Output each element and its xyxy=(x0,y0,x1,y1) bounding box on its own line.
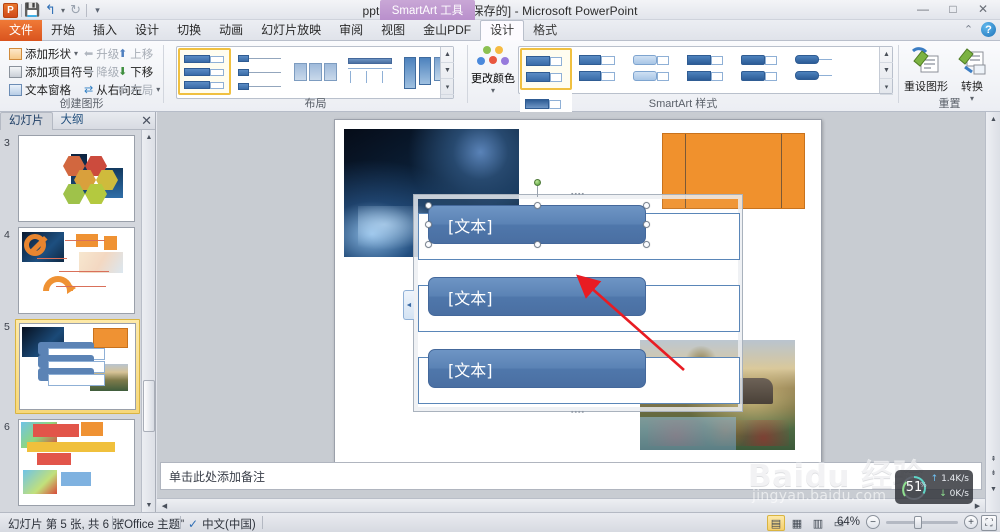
slide-canvas[interactable]: ▪▪▪▪ ▪▪▪▪ ◄ [文本] xyxy=(334,119,822,486)
ribbon-help-buttons: ⌃ ? xyxy=(961,22,996,37)
divider xyxy=(180,516,181,529)
upload-icon: ↑ xyxy=(931,474,939,484)
chevron-down-icon[interactable]: ▾ xyxy=(74,49,78,58)
selection-handle-sw[interactable] xyxy=(425,241,432,248)
slides-panel-scrollbar[interactable]: ▲ ▼ xyxy=(141,130,155,512)
tab-file[interactable]: 文件 xyxy=(0,20,42,41)
language-label: 中文(中国) xyxy=(202,516,256,532)
layout-gallery-item-3[interactable] xyxy=(343,48,396,95)
download-icon: ↓ xyxy=(939,489,947,499)
styles-scroll-up-icon[interactable]: ▲ xyxy=(880,47,893,63)
add-shape-label: 添加形状 xyxy=(25,46,71,62)
view-normal-icon[interactable]: ▤ xyxy=(767,515,785,531)
scroll-down-icon[interactable]: ▼ xyxy=(986,482,1000,496)
close-panel-icon[interactable]: ✕ xyxy=(141,113,152,129)
slide-thumbnail-6[interactable] xyxy=(18,419,135,506)
group-label-smartart-styles: SmartArt 样式 xyxy=(468,95,898,111)
divider xyxy=(262,516,263,529)
tab-kingsoft-pdf[interactable]: 金山PDF xyxy=(414,20,480,41)
minimize-ribbon-icon[interactable]: ⌃ xyxy=(961,22,976,37)
slide-thumbnail-list: 3 4 xyxy=(0,130,141,512)
move-up-button[interactable]: ⬆ 上移 xyxy=(116,45,155,62)
layout-gallery-item-2[interactable] xyxy=(288,48,341,95)
tab-animations[interactable]: 动画 xyxy=(210,20,252,41)
download-rate-value: 0K/s xyxy=(950,489,969,499)
layout-gallery-scrollbar[interactable]: ▲ ▼ ▾ xyxy=(440,47,453,98)
group-label-reset: 重置 xyxy=(899,95,1000,111)
zoom-level-label[interactable]: 64% xyxy=(832,516,860,528)
text-pane-toggle-icon[interactable]: ◄ xyxy=(403,290,414,320)
chevron-down-icon[interactable]: ▾ xyxy=(156,85,160,94)
upload-rate: ↑ 1.4K/s xyxy=(931,474,969,484)
workspace-vertical-scrollbar[interactable]: ▲ ⇞ ⇟ ▼ xyxy=(985,112,1000,512)
smartart-node-3-shape[interactable]: [文本] xyxy=(428,349,646,388)
selection-handle-s[interactable] xyxy=(534,241,541,248)
network-speed-widget[interactable]: 51 % ↑ 1.4K/s ↓ 0K/s xyxy=(895,470,973,504)
slide-thumbnail-3[interactable] xyxy=(18,135,135,222)
slide-number: 5 xyxy=(4,321,10,333)
list-item[interactable]: 3 xyxy=(0,130,141,222)
window-title: pptC2B4.pptm [自动保存的] - Microsoft PowerPo… xyxy=(0,2,1000,19)
tab-outline[interactable]: 大纲 xyxy=(53,112,92,130)
reset-graphic-button[interactable]: 重设图形 xyxy=(904,44,948,94)
powerpoint-window: P 💾 ↰ ▾ ↻ ▾ pptC2B4.pptm [自动保存的] - Micro… xyxy=(0,0,1000,532)
reset-graphic-icon xyxy=(910,47,942,77)
selection-handle-n[interactable] xyxy=(534,202,541,209)
gallery-scroll-up-icon[interactable]: ▲ xyxy=(441,47,454,63)
help-icon[interactable]: ? xyxy=(981,22,996,37)
smartart-style-item-1[interactable] xyxy=(574,48,626,90)
list-item[interactable]: 5 xyxy=(0,314,141,414)
scroll-left-icon[interactable]: ◀ xyxy=(157,499,172,513)
tab-smartart-design[interactable]: 设计 xyxy=(480,20,524,41)
smartart-style-item-0[interactable] xyxy=(520,48,572,90)
slide-thumbnail-selected-frame xyxy=(15,319,140,414)
zoom-slider[interactable] xyxy=(886,521,958,524)
scroll-up-icon[interactable]: ▲ xyxy=(986,112,1000,126)
ribbon-group-layouts: ▲ ▼ ▾ 布局 xyxy=(164,41,467,112)
move-down-label: 下移 xyxy=(130,64,153,80)
smartart-graphic-frame[interactable]: ▪▪▪▪ ▪▪▪▪ ◄ [文本] xyxy=(413,194,743,412)
slide-number: 6 xyxy=(4,421,10,433)
smartart-node-2-shape[interactable]: [文本] xyxy=(428,277,646,316)
smartart-style-item-3[interactable] xyxy=(682,48,734,90)
rotation-handle[interactable] xyxy=(534,179,541,186)
styles-scroll-down-icon[interactable]: ▼ xyxy=(880,63,893,79)
tab-smartart-format[interactable]: 格式 xyxy=(524,20,566,41)
tab-design[interactable]: 设计 xyxy=(126,20,168,41)
upload-rate-value: 1.4K/s xyxy=(941,474,969,484)
language-status[interactable]: ✓ 中文(中国) xyxy=(188,516,256,532)
view-slide-sorter-icon[interactable]: ▦ xyxy=(788,515,806,531)
ribbon-group-smartart-styles: 更改颜色 ▾ xyxy=(468,41,898,112)
change-colors-button[interactable]: 更改颜色 ▾ xyxy=(471,44,515,95)
zoom-slider-thumb[interactable] xyxy=(914,516,922,529)
slide-number: 4 xyxy=(4,229,10,241)
ribbon: 添加形状 ▾ 添加项目符号 文本窗格 ⬅ 升级 ➡ 降级 ⇄ 从右向左 xyxy=(0,41,1000,112)
slide-number: 3 xyxy=(4,137,10,149)
move-down-icon: ⬇ xyxy=(118,65,127,78)
list-item[interactable]: 6 xyxy=(0,414,141,506)
change-colors-label: 更改颜色 xyxy=(471,70,515,86)
layout-gallery-item-0[interactable] xyxy=(178,48,231,95)
convert-label: 转换 xyxy=(950,78,994,94)
group-label-layouts: 布局 xyxy=(164,95,467,111)
add-shape-icon xyxy=(8,47,22,61)
spellcheck-icon: ✓ xyxy=(188,517,198,531)
workspace-horizontal-scrollbar[interactable]: ◀ ▶ xyxy=(157,498,985,512)
window-controls: — □ ✕ xyxy=(908,0,998,17)
gallery-more-icon[interactable]: ▾ xyxy=(441,79,454,95)
tab-review[interactable]: 审阅 xyxy=(330,20,372,41)
slide-workspace: ▪▪▪▪ ▪▪▪▪ ◄ [文本] xyxy=(157,112,1000,512)
zoom-out-button[interactable]: − xyxy=(866,515,880,529)
add-bullet-icon xyxy=(8,65,22,79)
zoom-in-button[interactable]: + xyxy=(964,515,978,529)
smartart-node-1-shape[interactable]: [文本] xyxy=(428,205,646,244)
smartart-style-item-5[interactable] xyxy=(790,48,842,90)
layout-gallery[interactable]: ▲ ▼ ▾ xyxy=(176,46,454,99)
theme-status[interactable]: "Office 主题" xyxy=(120,516,184,532)
slide-thumbnail-4[interactable] xyxy=(18,227,135,314)
previous-slide-icon[interactable]: ⇞ xyxy=(986,452,1000,466)
scroll-down-icon[interactable]: ▼ xyxy=(142,498,156,512)
slide-thumbnail-5[interactable] xyxy=(19,323,136,410)
move-down-button[interactable]: ⬇ 下移 xyxy=(116,63,155,80)
frame-handle-bottom[interactable]: ▪▪▪▪ xyxy=(571,409,585,416)
add-shape-button[interactable]: 添加形状 ▾ xyxy=(6,45,80,62)
group-label-create-graphic: 创建图形 xyxy=(0,95,163,111)
maximize-button[interactable]: □ xyxy=(938,0,968,17)
selection-handle-e[interactable] xyxy=(643,221,650,228)
change-colors-icon xyxy=(476,46,510,72)
tab-transitions[interactable]: 切换 xyxy=(168,20,210,41)
tab-home[interactable]: 开始 xyxy=(42,20,84,41)
slide-position-status[interactable]: 幻灯片 第 5 张, 共 6 张 xyxy=(8,516,124,532)
cpu-unit: % xyxy=(920,481,927,489)
slides-panel-tabs: 幻灯片 大纲 ✕ xyxy=(0,112,155,130)
zoom-control: 64% − + xyxy=(832,515,978,529)
tab-slides[interactable]: 幻灯片 xyxy=(0,112,53,130)
contextual-tab-group-label: SmartArt 工具 xyxy=(380,0,475,20)
selection-handle-se[interactable] xyxy=(643,241,650,248)
reset-graphic-label: 重设图形 xyxy=(904,78,948,94)
tab-view[interactable]: 视图 xyxy=(372,20,414,41)
move-up-label: 上移 xyxy=(130,46,153,62)
close-button[interactable]: ✕ xyxy=(968,0,998,17)
download-rate: ↓ 0K/s xyxy=(939,489,969,499)
smartart-style-item-4[interactable] xyxy=(736,48,788,90)
demote-icon: ➡ xyxy=(84,65,93,78)
selection-handle-w[interactable] xyxy=(425,221,432,228)
ribbon-group-reset: 重设图形 转换 ▾ 重置 xyxy=(899,41,1000,112)
list-item[interactable]: 4 xyxy=(0,222,141,314)
scrollbar-thumb[interactable] xyxy=(143,380,155,432)
view-reading-icon[interactable]: ▥ xyxy=(809,515,827,531)
rotation-stem xyxy=(537,185,538,197)
tab-slideshow[interactable]: 幻灯片放映 xyxy=(252,20,330,41)
notes-pane[interactable]: 单击此处添加备注 xyxy=(160,462,982,490)
ribbon-group-create-graphic: 添加形状 ▾ 添加项目符号 文本窗格 ⬅ 升级 ➡ 降级 ⇄ 从右向左 xyxy=(0,41,163,112)
tab-insert[interactable]: 插入 xyxy=(84,20,126,41)
smartart-styles-scrollbar[interactable]: ▲ ▼ ▾ xyxy=(879,47,892,93)
cpu-gauge: 51 % xyxy=(899,472,929,502)
chevron-down-icon[interactable]: ▾ xyxy=(471,86,515,95)
status-bar: 幻灯片 第 5 张, 共 6 张 "Office 主题" ✓ 中文(中国) ▤ … xyxy=(0,512,1000,532)
move-up-icon: ⬆ xyxy=(118,47,127,60)
minimize-button[interactable]: — xyxy=(908,0,938,17)
gallery-scroll-down-icon[interactable]: ▼ xyxy=(441,63,454,79)
slides-panel: 幻灯片 大纲 ✕ 3 4 xyxy=(0,112,156,512)
selection-handle-nw[interactable] xyxy=(425,202,432,209)
smartart-styles-gallery[interactable]: ▲ ▼ ▾ xyxy=(518,46,893,94)
layout-gallery-item-1[interactable] xyxy=(233,48,286,95)
scroll-up-icon[interactable]: ▲ xyxy=(142,130,156,144)
next-slide-icon[interactable]: ⇟ xyxy=(986,466,1000,480)
frame-handle-top[interactable]: ▪▪▪▪ xyxy=(571,191,585,198)
convert-icon xyxy=(956,47,988,77)
smartart-style-item-2[interactable] xyxy=(628,48,680,90)
selection-handle-ne[interactable] xyxy=(643,202,650,209)
promote-icon: ⬅ xyxy=(84,47,93,60)
divider xyxy=(112,516,113,529)
title-bar: P 💾 ↰ ▾ ↻ ▾ pptC2B4.pptm [自动保存的] - Micro… xyxy=(0,0,1000,20)
ribbon-tab-strip: 文件 开始 插入 设计 切换 动画 幻灯片放映 审阅 视图 金山PDF 设计 格… xyxy=(0,20,1000,41)
styles-more-icon[interactable]: ▾ xyxy=(880,79,893,95)
fit-to-window-button[interactable]: ⛶ xyxy=(981,515,997,531)
